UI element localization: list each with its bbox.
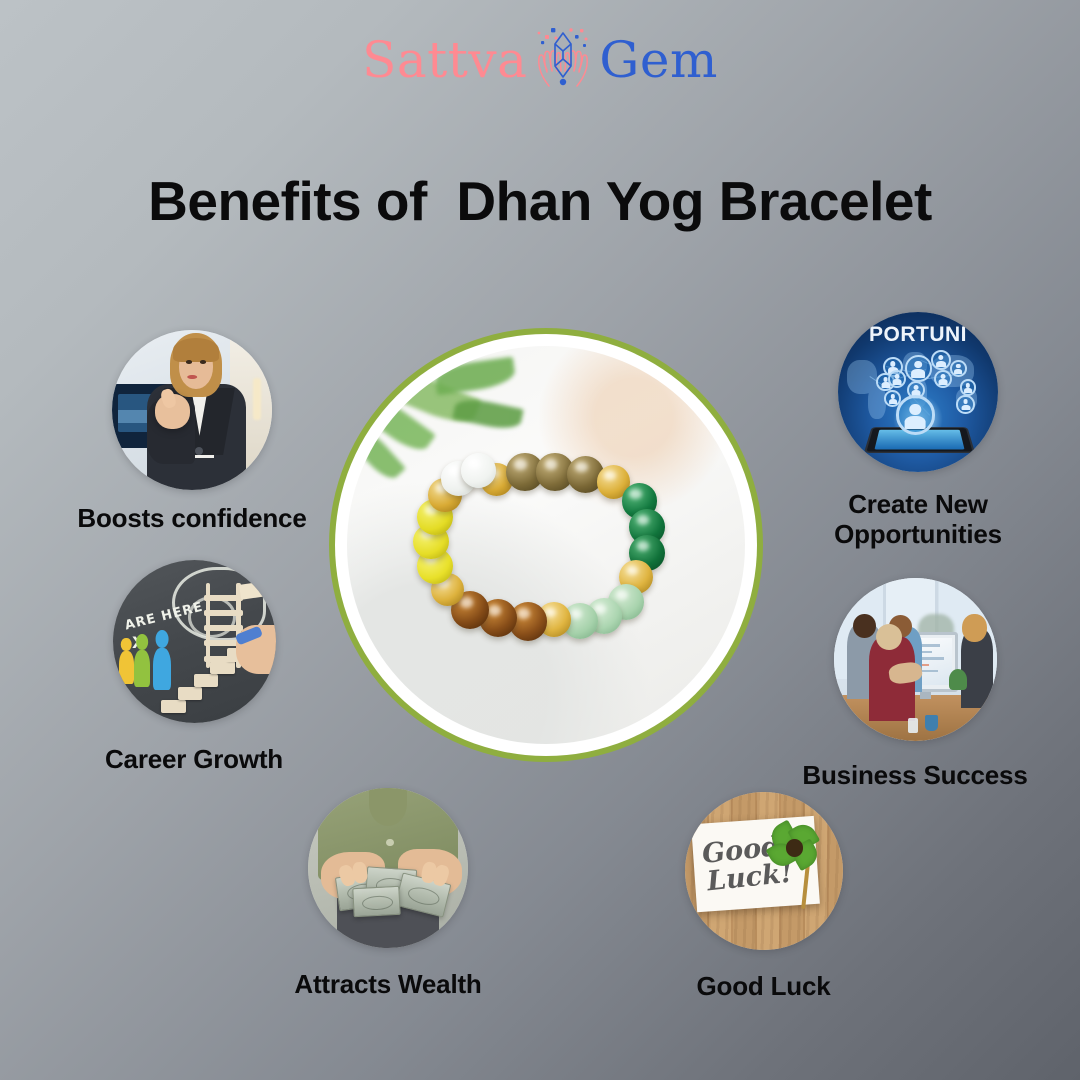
benefit-item-career[interactable]: ARE HERE X Career Growth xyxy=(60,560,328,775)
office-team-meeting-photo xyxy=(834,578,997,741)
benefit-label-goodluck: Good Luck xyxy=(636,972,891,1002)
benefit-label-opportunities: Create New Opportunities xyxy=(792,490,1044,549)
global-network-tablet-photo: PORTUNI xyxy=(838,312,998,472)
benefit-label-wealth: Attracts Wealth xyxy=(258,970,518,1000)
page-title: Benefits of Dhan Yog Bracelet xyxy=(0,169,1080,233)
benefit-label-career: Career Growth xyxy=(60,745,328,775)
opportunity-banner-text: PORTUNI xyxy=(838,323,998,347)
hero-product-ring xyxy=(329,328,763,762)
benefit-item-wealth[interactable]: Attracts Wealth xyxy=(258,788,518,1000)
bracelet-beads xyxy=(347,346,745,744)
brand-name-part1: Sattva xyxy=(362,35,527,85)
hero-inner-white-ring xyxy=(335,334,757,756)
hands-holding-cash-photo xyxy=(308,788,468,948)
benefit-item-confidence[interactable]: Boosts confidence xyxy=(42,330,342,534)
infographic-canvas: Sattva xyxy=(0,0,1080,1080)
benefit-item-opportunities[interactable]: PORTUNI xyxy=(792,312,1044,549)
brand-logo: Sattva xyxy=(0,24,1080,96)
chalkboard-stairs-ladder-photo: ARE HERE X xyxy=(113,560,276,723)
businesswoman-pointing-photo xyxy=(112,330,272,490)
crystal-in-hands-icon xyxy=(525,24,601,96)
benefit-label-confidence: Boosts confidence xyxy=(42,504,342,534)
benefit-label-business: Business Success xyxy=(780,761,1050,791)
bracelet-product-photo xyxy=(347,346,745,744)
brand-name-part2: Gem xyxy=(599,35,717,85)
good-luck-note-clover-photo: Good Luck! xyxy=(685,792,843,950)
benefit-item-goodluck[interactable]: Good Luck! Good Luck xyxy=(636,792,891,1002)
benefit-item-business[interactable]: Business Success xyxy=(780,578,1050,791)
